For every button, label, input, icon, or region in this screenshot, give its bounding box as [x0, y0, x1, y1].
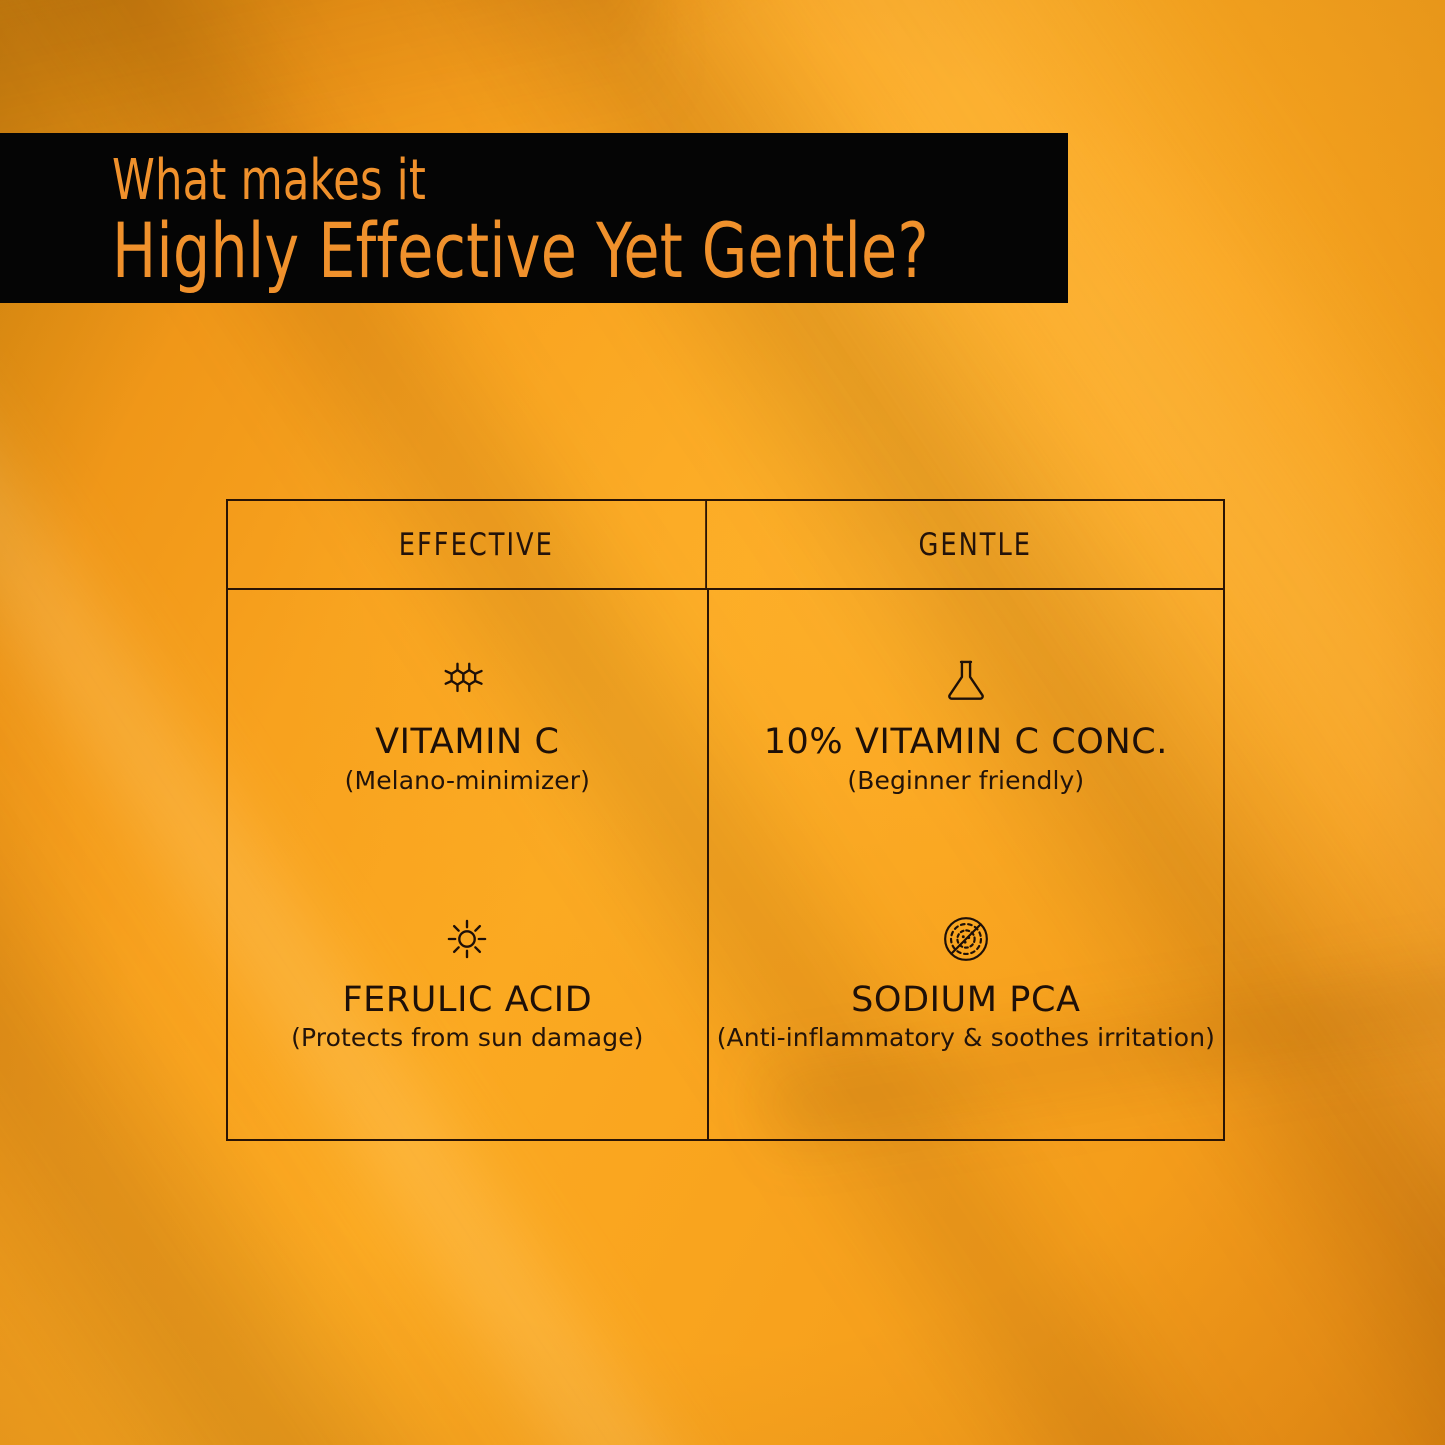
feature-subtitle: (Beginner friendly): [847, 766, 1084, 795]
feature-cell-vitamin-c: VITAMIN C (Melano-minimizer): [228, 590, 707, 882]
feature-title: 10% VITAMIN C CONC.: [764, 724, 1168, 761]
no-irritation-bacteria-icon: [937, 910, 995, 968]
feature-cell-sodium-pca: SODIUM PCA (Anti-inflammatory & soothes …: [709, 882, 1223, 1140]
comparison-table: EFFECTIVE GENTLE: [226, 499, 1225, 1141]
erlenmeyer-flask-icon: [937, 652, 995, 710]
table-header-row: EFFECTIVE GENTLE: [228, 501, 1223, 590]
feature-title: VITAMIN C: [375, 724, 560, 761]
feature-title: FERULIC ACID: [342, 982, 592, 1019]
feature-title: SODIUM PCA: [851, 982, 1080, 1019]
feature-subtitle: (Protects from sun damage): [291, 1023, 643, 1052]
sun-icon: [438, 910, 496, 968]
column-header-gentle: GENTLE: [746, 501, 1203, 588]
column-gentle: 10% VITAMIN C CONC. (Beginner friendly): [709, 590, 1223, 1139]
title-line-primary: What makes it: [112, 153, 934, 209]
feature-cell-ferulic-acid: FERULIC ACID (Protects from sun damage): [228, 882, 707, 1140]
molecule-hexagon-icon: [438, 652, 496, 710]
feature-subtitle: (Melano-minimizer): [345, 766, 590, 795]
title-line-secondary: Highly Effective Yet Gentle?: [112, 213, 934, 289]
feature-cell-vitamin-c-concentration: 10% VITAMIN C CONC. (Beginner friendly): [709, 590, 1223, 882]
column-header-effective: EFFECTIVE: [248, 501, 707, 588]
table-body: VITAMIN C (Melano-minimizer): [228, 590, 1223, 1139]
feature-subtitle: (Anti-inflammatory & soothes irritation): [717, 1023, 1215, 1052]
title-banner: What makes it Highly Effective Yet Gentl…: [0, 133, 1068, 303]
column-effective: VITAMIN C (Melano-minimizer): [228, 590, 709, 1139]
